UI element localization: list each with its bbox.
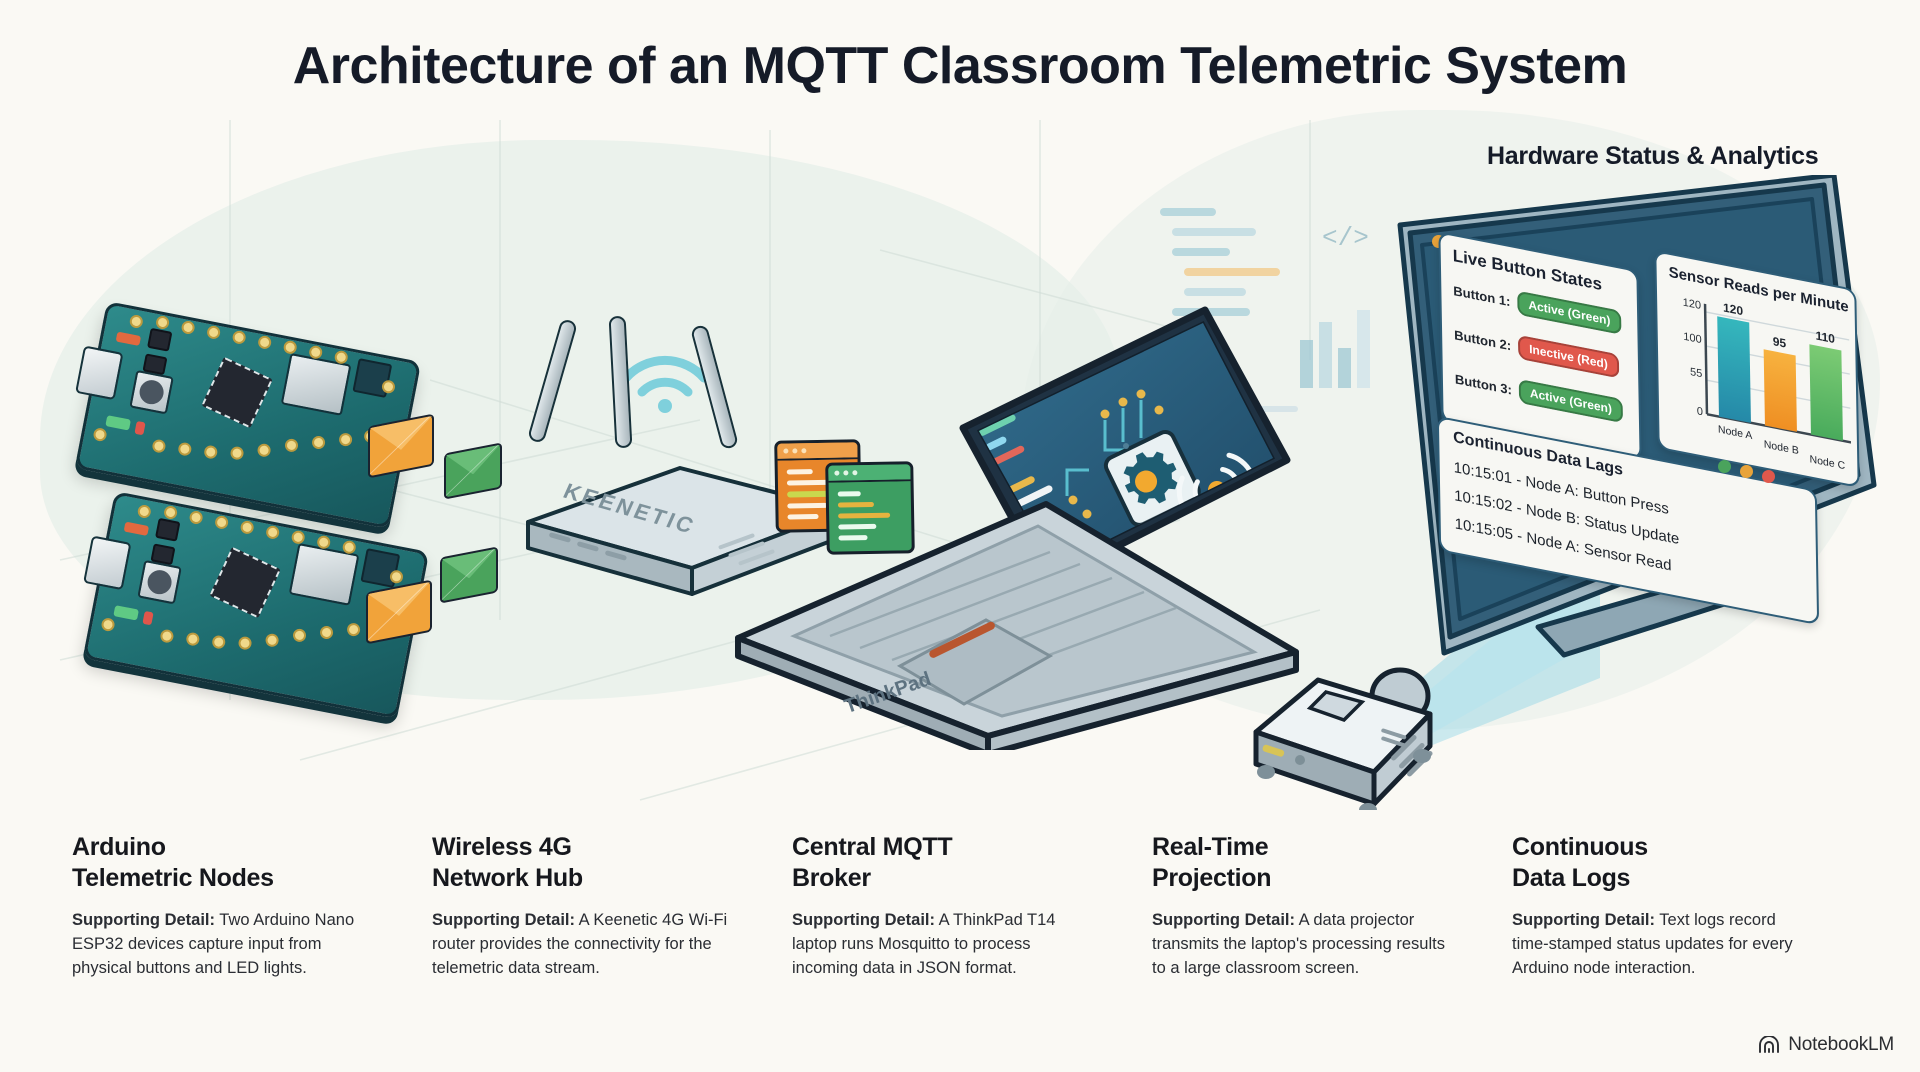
button-state-row: Button 3: Active (Green) [1455,366,1623,423]
bar-value-label: 110 [1815,329,1835,347]
notebooklm-arc-icon [1758,1036,1780,1054]
status-dot-red [1762,470,1775,483]
caption-detail-label: Supporting Detail: [1152,911,1295,929]
svg-text:</>: </> [1322,223,1369,253]
page-title: Architecture of an MQTT Classroom Teleme… [0,36,1920,96]
caption-detail: Supporting Detail: Text logs record time… [1512,908,1814,980]
card-dots [834,470,857,475]
bar-node-b [1764,349,1797,432]
x-tick-label: Node B [1764,438,1799,457]
bar-value-label: 95 [1773,334,1787,351]
status-badge: Inective (Red) [1518,335,1619,379]
button-state-label: Button 2: [1454,327,1511,353]
status-dot-green [1718,460,1731,473]
bar-node-a [1717,316,1751,423]
caption-wireless-4g-network-hub: Wireless 4G Network Hub Supporting Detai… [432,832,792,980]
watermark-label: NotebookLM [1788,1034,1894,1056]
classroom-display-monitor: Live Button States Button 1: Active (Gre… [1388,175,1888,685]
y-tick-label: 0 [1697,405,1703,418]
caption-detail-label: Supporting Detail: [792,911,935,929]
dashboard-heading: Hardware Status & Analytics [1487,142,1818,171]
caption-title: Wireless 4G Network Hub [432,832,734,894]
caption-detail: Supporting Detail: A data projector tran… [1152,908,1454,980]
button-state-row: Button 2: Inective (Red) [1454,322,1619,378]
caption-title: Real-Time Projection [1152,832,1454,894]
card-dots [783,448,806,453]
caption-real-time-projection: Real-Time Projection Supporting Detail: … [1152,832,1512,980]
y-tick-label: 100 [1683,331,1702,346]
caption-continuous-data-logs: Continuous Data Logs Supporting Detail: … [1512,832,1872,980]
caption-detail: Supporting Detail: Two Arduino Nano ESP3… [72,908,374,980]
y-tick-label: 55 [1690,366,1702,380]
caption-detail-label: Supporting Detail: [1512,911,1655,929]
status-dot-amber [1740,465,1753,478]
caption-detail-label: Supporting Detail: [432,911,575,929]
caption-detail-label: Supporting Detail: [72,911,215,929]
svg-text:{: { [955,397,965,423]
caption-detail: Supporting Detail: A Keenetic 4G Wi-Fi r… [432,908,734,980]
notebooklm-watermark: NotebookLM [1758,1034,1894,1056]
caption-detail: Supporting Detail: A ThinkPad T14 laptop… [792,908,1094,980]
status-badge: Active (Green) [1519,379,1623,423]
button-state-label: Button 1: [1453,283,1510,309]
caption-title: Central MQTT Broker [792,832,1094,894]
section-captions: Arduino Telemetric Nodes Supporting Deta… [72,832,1872,980]
caption-arduino-telemetric-nodes: Arduino Telemetric Nodes Supporting Deta… [72,832,432,980]
x-tick-label: Node A [1718,423,1754,442]
sensor-reads-bar-chart: 120 100 55 0 120 95 110 [1665,286,1856,481]
button-state-label: Button 3: [1455,371,1512,397]
status-badge: Active (Green) [1517,291,1621,335]
sensor-reads-chart-card: Sensor Reads per Minute 120 100 55 0 [1654,250,1859,488]
y-tick-label: 120 [1683,297,1702,312]
bar-node-c [1809,344,1843,441]
caption-title: Arduino Telemetric Nodes [72,832,374,894]
infographic-canvas: </> Architecture of an MQTT Classroom Te… [0,0,1920,1072]
x-tick-label: Node C [1809,453,1845,472]
caption-central-mqtt-broker: Central MQTT Broker Supporting Detail: A… [792,832,1152,980]
caption-title: Continuous Data Logs [1512,832,1814,894]
